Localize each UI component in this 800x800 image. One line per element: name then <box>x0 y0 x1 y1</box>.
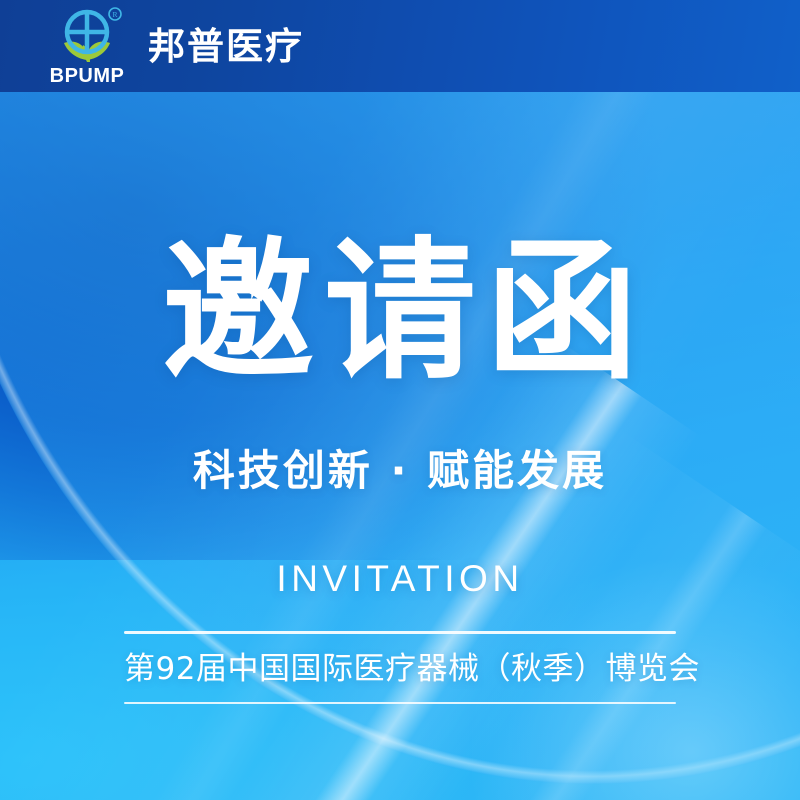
bpump-logo-svg: R BPUMP <box>48 6 126 86</box>
bpump-logo: R BPUMP <box>48 6 126 86</box>
poster-content: 邀请函 科技创新 · 赋能发展 INVITATION 第92届中国国际医疗器械（… <box>0 0 800 800</box>
registered-mark-glyph: R <box>112 10 117 19</box>
invitation-poster: R BPUMP 邦普医疗 邀请函 科技创新 · 赋能发展 INVITATION … <box>0 0 800 800</box>
brand-name-chinese: 邦普医疗 <box>148 28 304 65</box>
brand-header-bar: R BPUMP 邦普医疗 <box>0 0 800 92</box>
event-name: 第92届中国国际医疗器械（秋季）博览会 <box>124 634 676 702</box>
poster-subtitle: 科技创新 · 赋能发展 <box>193 450 607 492</box>
bpump-wordmark: BPUMP <box>50 65 125 86</box>
invitation-english-label: INVITATION <box>276 560 523 597</box>
brand-header-inner: R BPUMP 邦普医疗 <box>0 6 304 86</box>
page-title: 邀请函 <box>152 236 648 388</box>
divider-bottom <box>124 702 676 704</box>
event-footer: 第92届中国国际医疗器械（秋季）博览会 <box>124 631 676 704</box>
